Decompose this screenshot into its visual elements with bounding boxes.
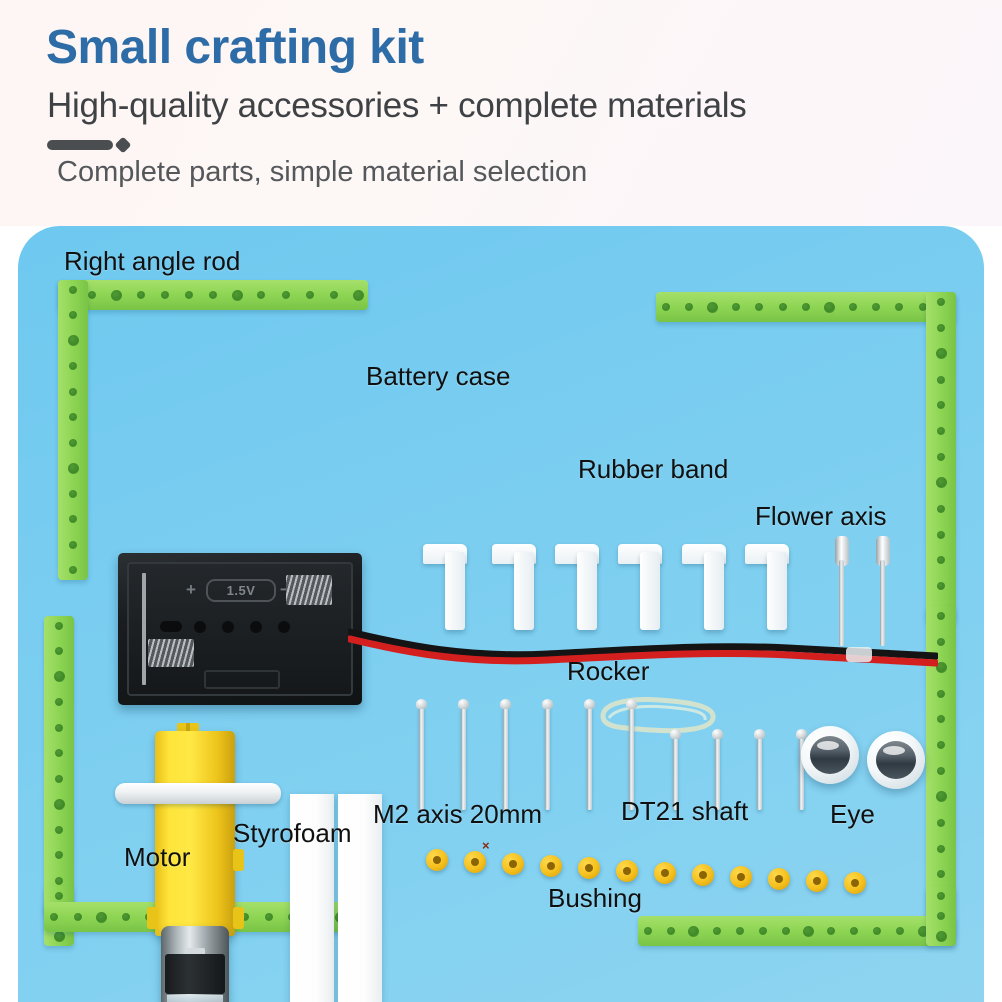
- rod-right-foot: [926, 886, 956, 946]
- rod-hole: [74, 913, 82, 921]
- rod-hole: [69, 388, 77, 396]
- battery-vent-slot: [160, 621, 182, 632]
- rod-hole: [937, 767, 945, 775]
- motor-can-end: [167, 995, 223, 1002]
- rod-hole: [55, 892, 63, 900]
- rocker: [423, 544, 467, 630]
- rocker-leg: [577, 552, 597, 630]
- rod-hole: [55, 775, 63, 783]
- rod-hole: [937, 453, 945, 461]
- flower-axis-rod: [880, 560, 885, 646]
- m2-axis-shaft: [545, 706, 550, 810]
- m2-axis-pin: [500, 699, 512, 809]
- rod-left-lower: [44, 616, 74, 916]
- rod-hole: [55, 851, 63, 859]
- bushing: [844, 872, 866, 894]
- bushing: [654, 862, 676, 884]
- bushing: [540, 855, 562, 877]
- m2-axis-pin: [416, 699, 428, 809]
- page-title: Small crafting kit: [46, 20, 424, 75]
- m2-axis-shaft: [503, 706, 508, 810]
- rod-hole: [330, 291, 338, 299]
- m2-axis-shaft: [629, 706, 634, 810]
- m2-axis-shaft: [419, 706, 424, 810]
- bushing: [464, 851, 486, 873]
- rocker-leg: [767, 552, 787, 630]
- rocker-leg: [514, 552, 534, 630]
- rocker: [745, 544, 789, 630]
- rod-hole: [824, 302, 835, 313]
- rod-hole: [69, 311, 77, 319]
- rod-hole: [68, 335, 79, 346]
- bushing: [578, 857, 600, 879]
- flower-axis-rod: [839, 560, 844, 646]
- m2-axis-pin: [542, 699, 554, 809]
- rod-hole: [265, 913, 273, 921]
- rod-hole: [69, 490, 77, 498]
- battery-bottom-label: [204, 670, 280, 689]
- rod-hole: [896, 927, 904, 935]
- rod-hole: [937, 892, 945, 900]
- eye-highlight: [883, 746, 905, 755]
- rod-hole: [937, 819, 945, 827]
- rod-hole: [662, 303, 670, 311]
- rod-hole: [872, 303, 880, 311]
- googly-eye: [801, 726, 859, 784]
- rod-hole: [937, 376, 945, 384]
- rod-hole: [55, 877, 63, 885]
- battery-contact-strip: [142, 573, 146, 685]
- rod-hole: [137, 291, 145, 299]
- rod-hole: [232, 290, 243, 301]
- rod-hole: [50, 913, 58, 921]
- rod-hole: [827, 927, 835, 935]
- bushing: [502, 853, 524, 875]
- m2-axis-shaft: [587, 706, 592, 810]
- rod-hole: [644, 927, 652, 935]
- rocker: [618, 544, 662, 630]
- rod-hole: [755, 303, 763, 311]
- googly-eye: [867, 731, 925, 789]
- rod-hole: [685, 303, 693, 311]
- rod-hole: [850, 927, 858, 935]
- rubber-band: [593, 696, 723, 736]
- dt21-shaft-head: [754, 729, 765, 739]
- label-dt21-shaft: DT21 shaft: [621, 796, 748, 827]
- rod-hole: [937, 427, 945, 435]
- motor-clip-left: [147, 907, 158, 929]
- rod-hole: [353, 290, 364, 301]
- label-eye: Eye: [830, 799, 875, 830]
- rod-hole: [937, 298, 945, 306]
- rod-hole: [937, 690, 945, 698]
- rod-hole: [936, 348, 947, 359]
- page-subtitle: High-quality accessories + complete mate…: [47, 86, 746, 126]
- label-flower-axis: Flower axis: [755, 501, 886, 532]
- rod-hole: [306, 291, 314, 299]
- bushing: [426, 849, 448, 871]
- battery-spring-bottom: [148, 639, 194, 667]
- m2-axis-head: [542, 699, 553, 709]
- motor-axle: [115, 783, 281, 804]
- m2-axis-pin: [458, 699, 470, 809]
- rod-hole: [936, 931, 947, 942]
- m2-axis-head: [458, 699, 469, 709]
- red-mark: ×: [482, 838, 490, 853]
- label-styrofoam: Styrofoam: [233, 818, 352, 849]
- product-photo: + 1.5V −: [18, 226, 984, 1002]
- label-rocker: Rocker: [567, 656, 649, 687]
- m2-axis-pin: [626, 699, 638, 809]
- label-rubber-band: Rubber band: [578, 454, 728, 485]
- rod-hole: [111, 290, 122, 301]
- rod-hole: [69, 541, 77, 549]
- rod-hole: [69, 286, 77, 294]
- eye-highlight: [817, 741, 839, 750]
- rod-hole: [55, 622, 63, 630]
- m2-axis-head: [626, 699, 637, 709]
- m2-axis-head: [416, 699, 427, 709]
- rod-top-left: [58, 280, 368, 310]
- rod-hole: [55, 724, 63, 732]
- flower-axis: [876, 536, 890, 646]
- rod-hole: [936, 791, 947, 802]
- rod-hole: [802, 303, 810, 311]
- battery-vent-hole: [194, 621, 206, 633]
- rod-hole: [803, 926, 814, 937]
- bushing: [692, 864, 714, 886]
- rod-hole: [713, 927, 721, 935]
- rod-hole: [937, 741, 945, 749]
- m2-axis-head: [500, 699, 511, 709]
- motor-can: [161, 926, 229, 1002]
- rod-hole: [782, 927, 790, 935]
- rod-hole: [779, 303, 787, 311]
- rod-hole: [736, 927, 744, 935]
- rod-hole: [937, 324, 945, 332]
- divider-ornament: [47, 136, 137, 154]
- rod-hole: [54, 931, 65, 942]
- rod-hole: [759, 927, 767, 935]
- rocker-leg: [445, 552, 465, 630]
- battery-vent-hole: [222, 621, 234, 633]
- rod-hole: [937, 531, 945, 539]
- rod-left-upper: [58, 280, 88, 580]
- battery-spring-top: [286, 575, 332, 605]
- rod-hole: [55, 749, 63, 757]
- battery-case: + 1.5V −: [118, 553, 362, 705]
- dt21-shaft-rod: [757, 736, 762, 810]
- flower-axis: [835, 536, 849, 646]
- label-bushing: Bushing: [548, 883, 642, 914]
- label-right-angle-rod: Right angle rod: [64, 246, 240, 277]
- rocker: [492, 544, 536, 630]
- m2-axis-pin: [584, 699, 596, 809]
- rod-hole: [55, 698, 63, 706]
- rod-hole: [873, 927, 881, 935]
- rod-hole: [161, 291, 169, 299]
- page-tagline: Complete parts, simple material selectio…: [57, 156, 587, 189]
- motor-gearbox: [155, 731, 235, 936]
- rod-hole: [732, 303, 740, 311]
- rod-hole: [69, 439, 77, 447]
- rod-hole: [937, 401, 945, 409]
- rod-hole: [937, 638, 945, 646]
- rod-hole: [937, 505, 945, 513]
- rod-hole: [68, 463, 79, 474]
- product-image: Small crafting kit High-quality accessor…: [0, 0, 1002, 1002]
- rod-hole: [209, 291, 217, 299]
- rod-hole: [122, 913, 130, 921]
- rod-hole: [849, 303, 857, 311]
- rod-hole: [69, 515, 77, 523]
- divider-dot-icon: [115, 137, 132, 154]
- rod-hole: [96, 912, 107, 923]
- rod-hole: [688, 926, 699, 937]
- rod-hole: [937, 912, 945, 920]
- battery-vent-hole: [278, 621, 290, 633]
- rod-hole: [282, 291, 290, 299]
- rocker-leg: [704, 552, 724, 630]
- rod-hole: [895, 303, 903, 311]
- bushing: [806, 870, 828, 892]
- battery-voltage-label: 1.5V: [206, 579, 276, 602]
- bushing: [768, 868, 790, 890]
- rod-top-right: [656, 292, 956, 322]
- rod-hole: [257, 291, 265, 299]
- rod-hole: [69, 566, 77, 574]
- m2-axis-head: [584, 699, 595, 709]
- rocker: [682, 544, 726, 630]
- rod-hole: [55, 647, 63, 655]
- rocker: [555, 544, 599, 630]
- dt21-shaft-head: [670, 729, 681, 739]
- rod-hole: [937, 715, 945, 723]
- battery-vent-hole: [250, 621, 262, 633]
- rod-hole: [937, 612, 945, 620]
- rod-hole: [937, 582, 945, 590]
- rod-hole: [69, 413, 77, 421]
- rod-hole: [69, 362, 77, 370]
- rod-hole: [936, 477, 947, 488]
- rocker-leg: [640, 552, 660, 630]
- motor-can-band: [165, 954, 225, 994]
- rod-hole: [937, 845, 945, 853]
- m2-axis-shaft: [461, 706, 466, 810]
- rod-hole: [54, 799, 65, 810]
- label-motor: Motor: [124, 842, 190, 873]
- rod-hole: [667, 927, 675, 935]
- label-m2-axis: M2 axis 20mm: [373, 799, 542, 830]
- rod-hole: [937, 870, 945, 878]
- battery-plus-symbol: +: [186, 581, 196, 598]
- motor-clip-right: [233, 849, 244, 871]
- rod-hole: [707, 302, 718, 313]
- dt21-shaft-head: [712, 729, 723, 739]
- rod-right-upper: [926, 292, 956, 622]
- rod-bottom-right: [638, 916, 956, 946]
- motor-clip-right2: [233, 907, 244, 929]
- rod-hole: [55, 826, 63, 834]
- rod-hole: [185, 291, 193, 299]
- rod-hole: [54, 671, 65, 682]
- label-battery-case: Battery case: [366, 361, 511, 392]
- rod-hole: [88, 291, 96, 299]
- bushing: [730, 866, 752, 888]
- dt21-shaft-pin: [754, 729, 766, 809]
- header-banner: Small crafting kit High-quality accessor…: [0, 0, 1002, 226]
- divider-bar: [47, 140, 113, 150]
- bushing: [616, 860, 638, 882]
- rod-hole: [937, 556, 945, 564]
